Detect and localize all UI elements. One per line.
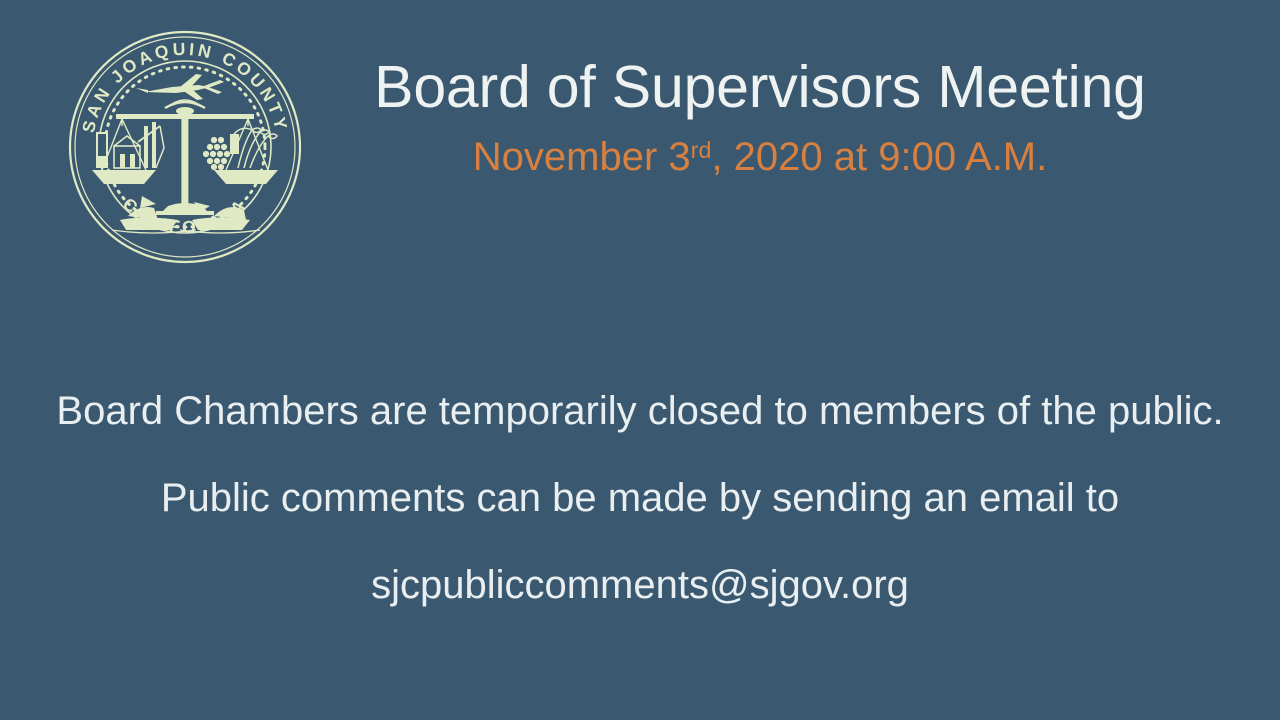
county-seal: SAN JOAQUIN COUNTY CALIFORNIA [68,30,302,264]
notice-line-instruction: Public comments can be made by sending a… [0,455,1280,542]
grapes-icon [203,137,230,170]
scales-of-justice-icon [92,100,278,215]
meeting-date: November 3rd, 2020 at 9:00 A.M. [330,126,1190,181]
county-seal-graphic: SAN JOAQUIN COUNTY CALIFORNIA [68,30,302,264]
meeting-date-ordinal: rd [691,137,712,163]
page-title: Board of Supervisors Meeting [330,52,1190,122]
public-comment-email: sjcpubliccomments@sjgov.org [0,542,1280,629]
airplane-icon [136,74,224,100]
notice-block: Board Chambers are temporarily closed to… [0,368,1280,629]
meeting-slide: SAN JOAQUIN COUNTY CALIFORNIA [0,0,1280,720]
meeting-date-suffix: , 2020 at 9:00 A.M. [711,135,1047,179]
header-block: Board of Supervisors Meeting November 3r… [330,52,1190,181]
meeting-date-prefix: November 3 [473,135,691,179]
industry-emblem [96,122,164,168]
notice-line-closure: Board Chambers are temporarily closed to… [0,368,1280,455]
